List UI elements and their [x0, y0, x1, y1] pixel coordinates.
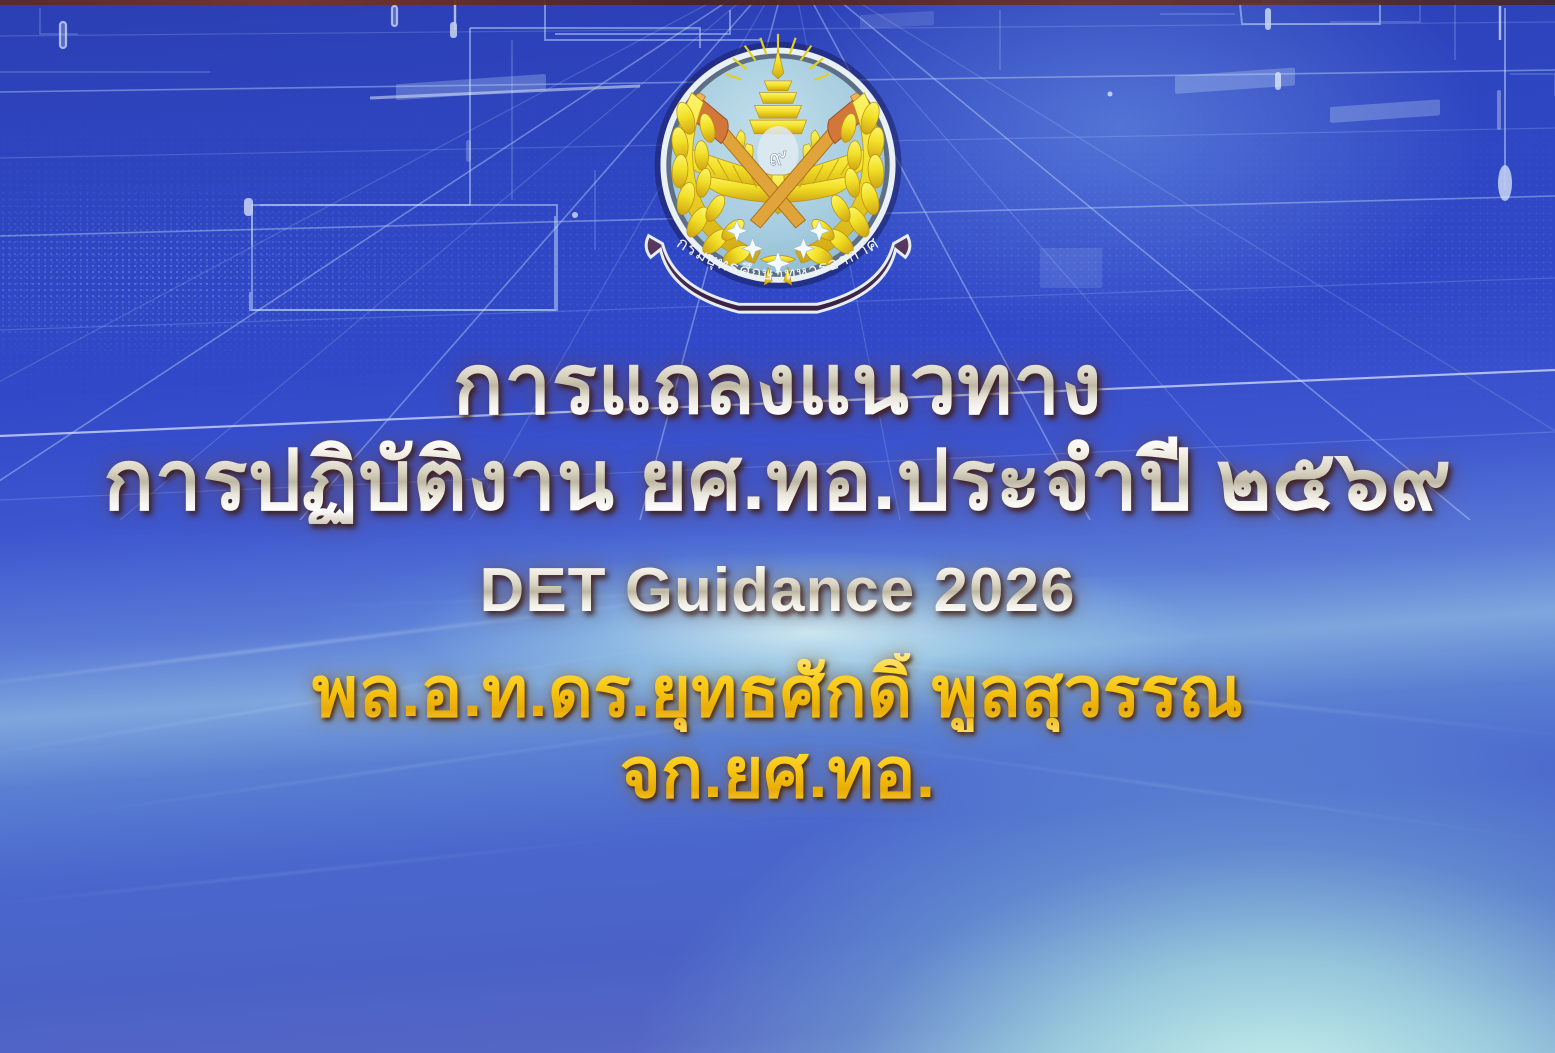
title-text-block: การแถลงแนวทาง การปฏิบัติงาน ยศ.ทอ.ประจำป…	[0, 340, 1555, 812]
royal-cypher-glyph: ๙	[768, 142, 787, 171]
title-line-2: การปฏิบัติงาน ยศ.ทอ.ประจำปี ๒๕๖๙	[0, 436, 1555, 524]
title-slide: ๙	[0, 0, 1555, 1053]
title-line-1: การแถลงแนวทาง	[0, 340, 1555, 428]
presenter-role: จก.ยศ.ทอ.	[0, 734, 1555, 812]
screen-top-edge	[0, 0, 1555, 5]
dot-matrix-texture-right-icon	[0, 185, 420, 355]
presenter-name: พล.อ.ท.ดร.ยุทธศักดิ์ พูลสุวรรณ	[0, 653, 1555, 731]
dot-matrix-texture-left-icon	[0, 185, 560, 335]
rtaf-det-emblem: ๙	[630, 28, 926, 318]
subtitle-english: DET Guidance 2026	[0, 558, 1555, 623]
